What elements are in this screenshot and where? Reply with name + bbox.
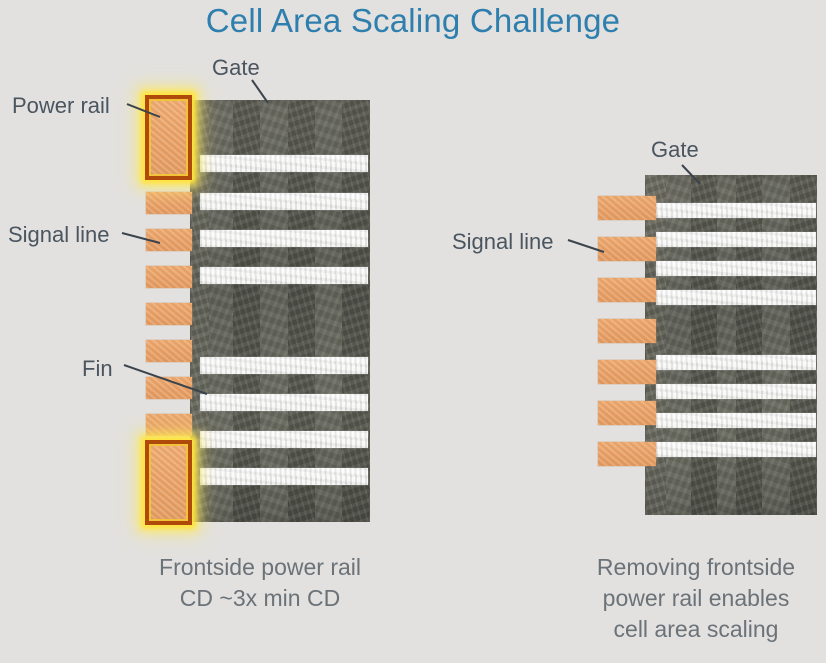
right-caption-line: cell area scaling	[566, 614, 826, 645]
right-fin-bar	[656, 413, 816, 428]
slide-canvas: Cell Area Scaling Challenge	[0, 0, 826, 663]
right-signal-line	[598, 237, 656, 261]
label-gate-left: Gate	[212, 55, 260, 81]
right-caption-line: Removing frontside	[566, 552, 826, 583]
right-gate-bar	[790, 175, 816, 515]
right-signal-line	[598, 360, 656, 384]
right-caption: Removing frontside power rail enables ce…	[566, 552, 826, 645]
left-caption: Frontside power rail CD ~3x min CD	[100, 552, 420, 614]
right-fin-bar	[656, 203, 816, 218]
right-fin-bar	[656, 442, 816, 457]
right-gate-bar	[736, 175, 762, 515]
right-signal-line	[598, 442, 656, 466]
label-fin: Fin	[82, 356, 113, 382]
label-gate-right: Gate	[651, 137, 699, 163]
left-caption-line: Frontside power rail	[100, 552, 420, 583]
label-signal-line-right: Signal line	[452, 229, 554, 255]
right-fin-bar	[656, 355, 816, 370]
right-signal-line	[598, 278, 656, 302]
label-power-rail: Power rail	[12, 93, 110, 119]
right-fin-bar	[656, 232, 816, 247]
right-gate-bar	[691, 175, 717, 515]
right-caption-line: power rail enables	[566, 583, 826, 614]
right-fin-bar	[656, 384, 816, 399]
right-fin-bar	[656, 261, 816, 276]
right-fin-bar	[656, 290, 816, 305]
right-signal-line	[598, 401, 656, 425]
label-signal-line-left: Signal line	[8, 222, 110, 248]
left-caption-line: CD ~3x min CD	[100, 583, 420, 614]
right-signal-line	[598, 319, 656, 343]
right-signal-line	[598, 196, 656, 220]
